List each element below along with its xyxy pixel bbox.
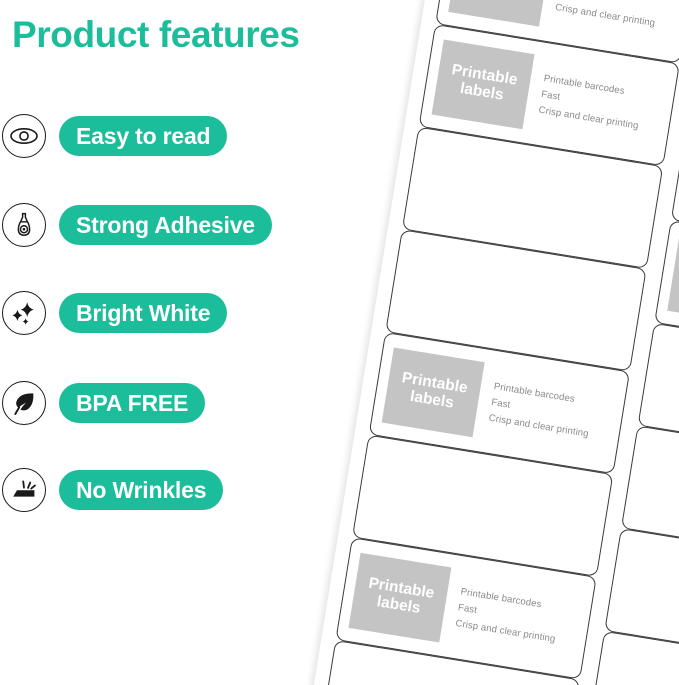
label-brand-box: Printablelabels bbox=[667, 236, 679, 326]
leaf-icon bbox=[2, 381, 46, 425]
feature-pill-bpa-free: BPA FREE bbox=[59, 383, 205, 423]
features-panel: Product features Easy to read Strong Adh… bbox=[0, 0, 350, 685]
feature-item-easy-to-read: Easy to read bbox=[2, 112, 227, 160]
page-title: Product features bbox=[12, 14, 300, 56]
label-spec-list: Printable barcodesFastCrisp and clear pr… bbox=[455, 586, 562, 645]
label-spec-list: Printable barcodesFastCrisp and clear pr… bbox=[538, 73, 645, 132]
feature-item-bright-white: Bright White bbox=[2, 289, 227, 337]
label-sheet: PrintablelabelsPrintable barcodesFastCri… bbox=[304, 0, 679, 685]
feature-label: No Wrinkles bbox=[76, 479, 206, 502]
feature-label: Easy to read bbox=[76, 125, 210, 148]
feature-label: Bright White bbox=[76, 302, 210, 325]
iron-icon bbox=[2, 468, 46, 512]
label-brand-box: Printablelabels bbox=[448, 0, 551, 27]
feature-label: BPA FREE bbox=[76, 392, 188, 415]
feature-pill-no-wrinkles: No Wrinkles bbox=[59, 470, 223, 510]
eye-icon bbox=[2, 114, 46, 158]
feature-pill-easy-to-read: Easy to read bbox=[59, 116, 227, 156]
feature-label: Strong Adhesive bbox=[76, 214, 255, 237]
sparkles-icon bbox=[2, 291, 46, 335]
label-spec-list: Printable barcodesFastCrisp and clear pr… bbox=[554, 0, 661, 29]
feature-item-bpa-free: BPA FREE bbox=[2, 379, 205, 427]
feature-item-no-wrinkles: No Wrinkles bbox=[2, 466, 223, 514]
label-brand-box: Printablelabels bbox=[382, 347, 485, 437]
feature-pill-bright-white: Bright White bbox=[59, 293, 227, 333]
label-brand-line-2: labels bbox=[475, 0, 521, 2]
feature-pill-strong-adhesive: Strong Adhesive bbox=[59, 205, 272, 245]
feature-item-strong-adhesive: Strong Adhesive bbox=[2, 201, 272, 249]
label-brand-box: Printablelabels bbox=[432, 40, 535, 130]
label-brand-box: Printablelabels bbox=[348, 553, 451, 643]
glue-bottle-icon bbox=[2, 203, 46, 247]
label-spec-list: Printable barcodesFastCrisp and clear pr… bbox=[488, 381, 595, 440]
